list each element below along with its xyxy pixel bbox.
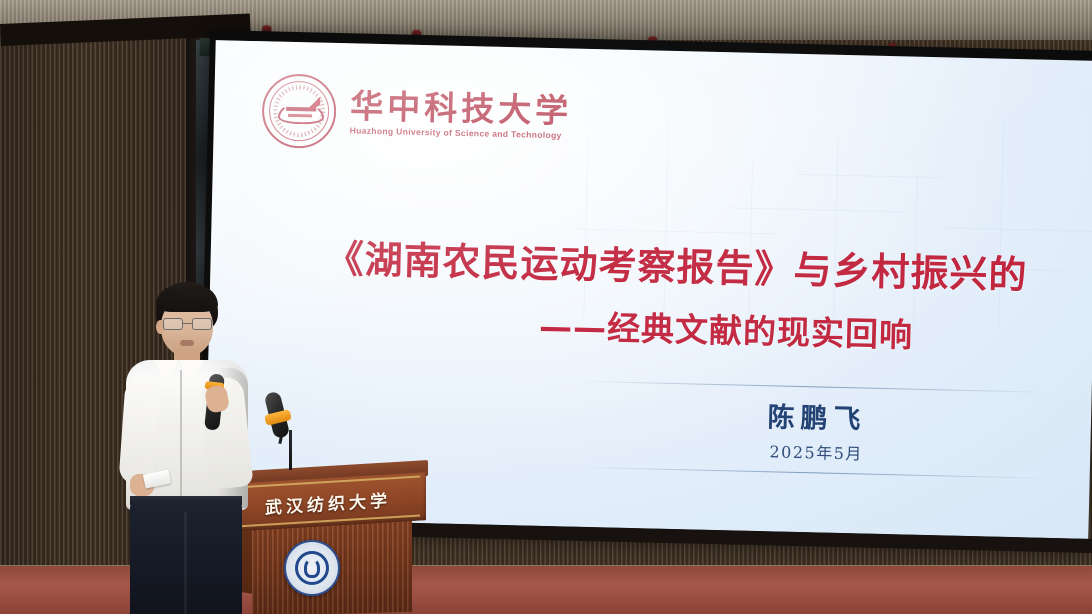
presenter-hair-front [156, 286, 218, 312]
presenter-trousers [130, 500, 242, 614]
university-name-block: 华中科技大学 Huazhong University of Science an… [350, 90, 573, 141]
university-name-cn: 华中科技大学 [350, 90, 573, 130]
presenter-left-arm [118, 379, 159, 485]
microphone-stand-pole [289, 430, 292, 470]
divider-top [580, 381, 1050, 393]
university-emblem-icon [284, 540, 340, 596]
slide-presenter-block: 陈鹏飞 2025年5月 [606, 381, 1028, 478]
slide-presenter-name: 陈鹏飞 [607, 391, 1028, 440]
lectern: 武汉纺织大学 [228, 462, 438, 614]
presenter-figure [108, 282, 258, 614]
divider-bottom [578, 467, 1048, 479]
slide-presenter-date: 2025年5月 [606, 434, 1026, 468]
presenter-mouth [180, 340, 194, 346]
hust-seal-icon [261, 73, 337, 149]
lecture-photo-scene: 华中科技大学 Huazhong University of Science an… [0, 0, 1092, 614]
university-logo-block: 华中科技大学 Huazhong University of Science an… [261, 73, 573, 154]
eyeglasses-icon [163, 318, 212, 330]
